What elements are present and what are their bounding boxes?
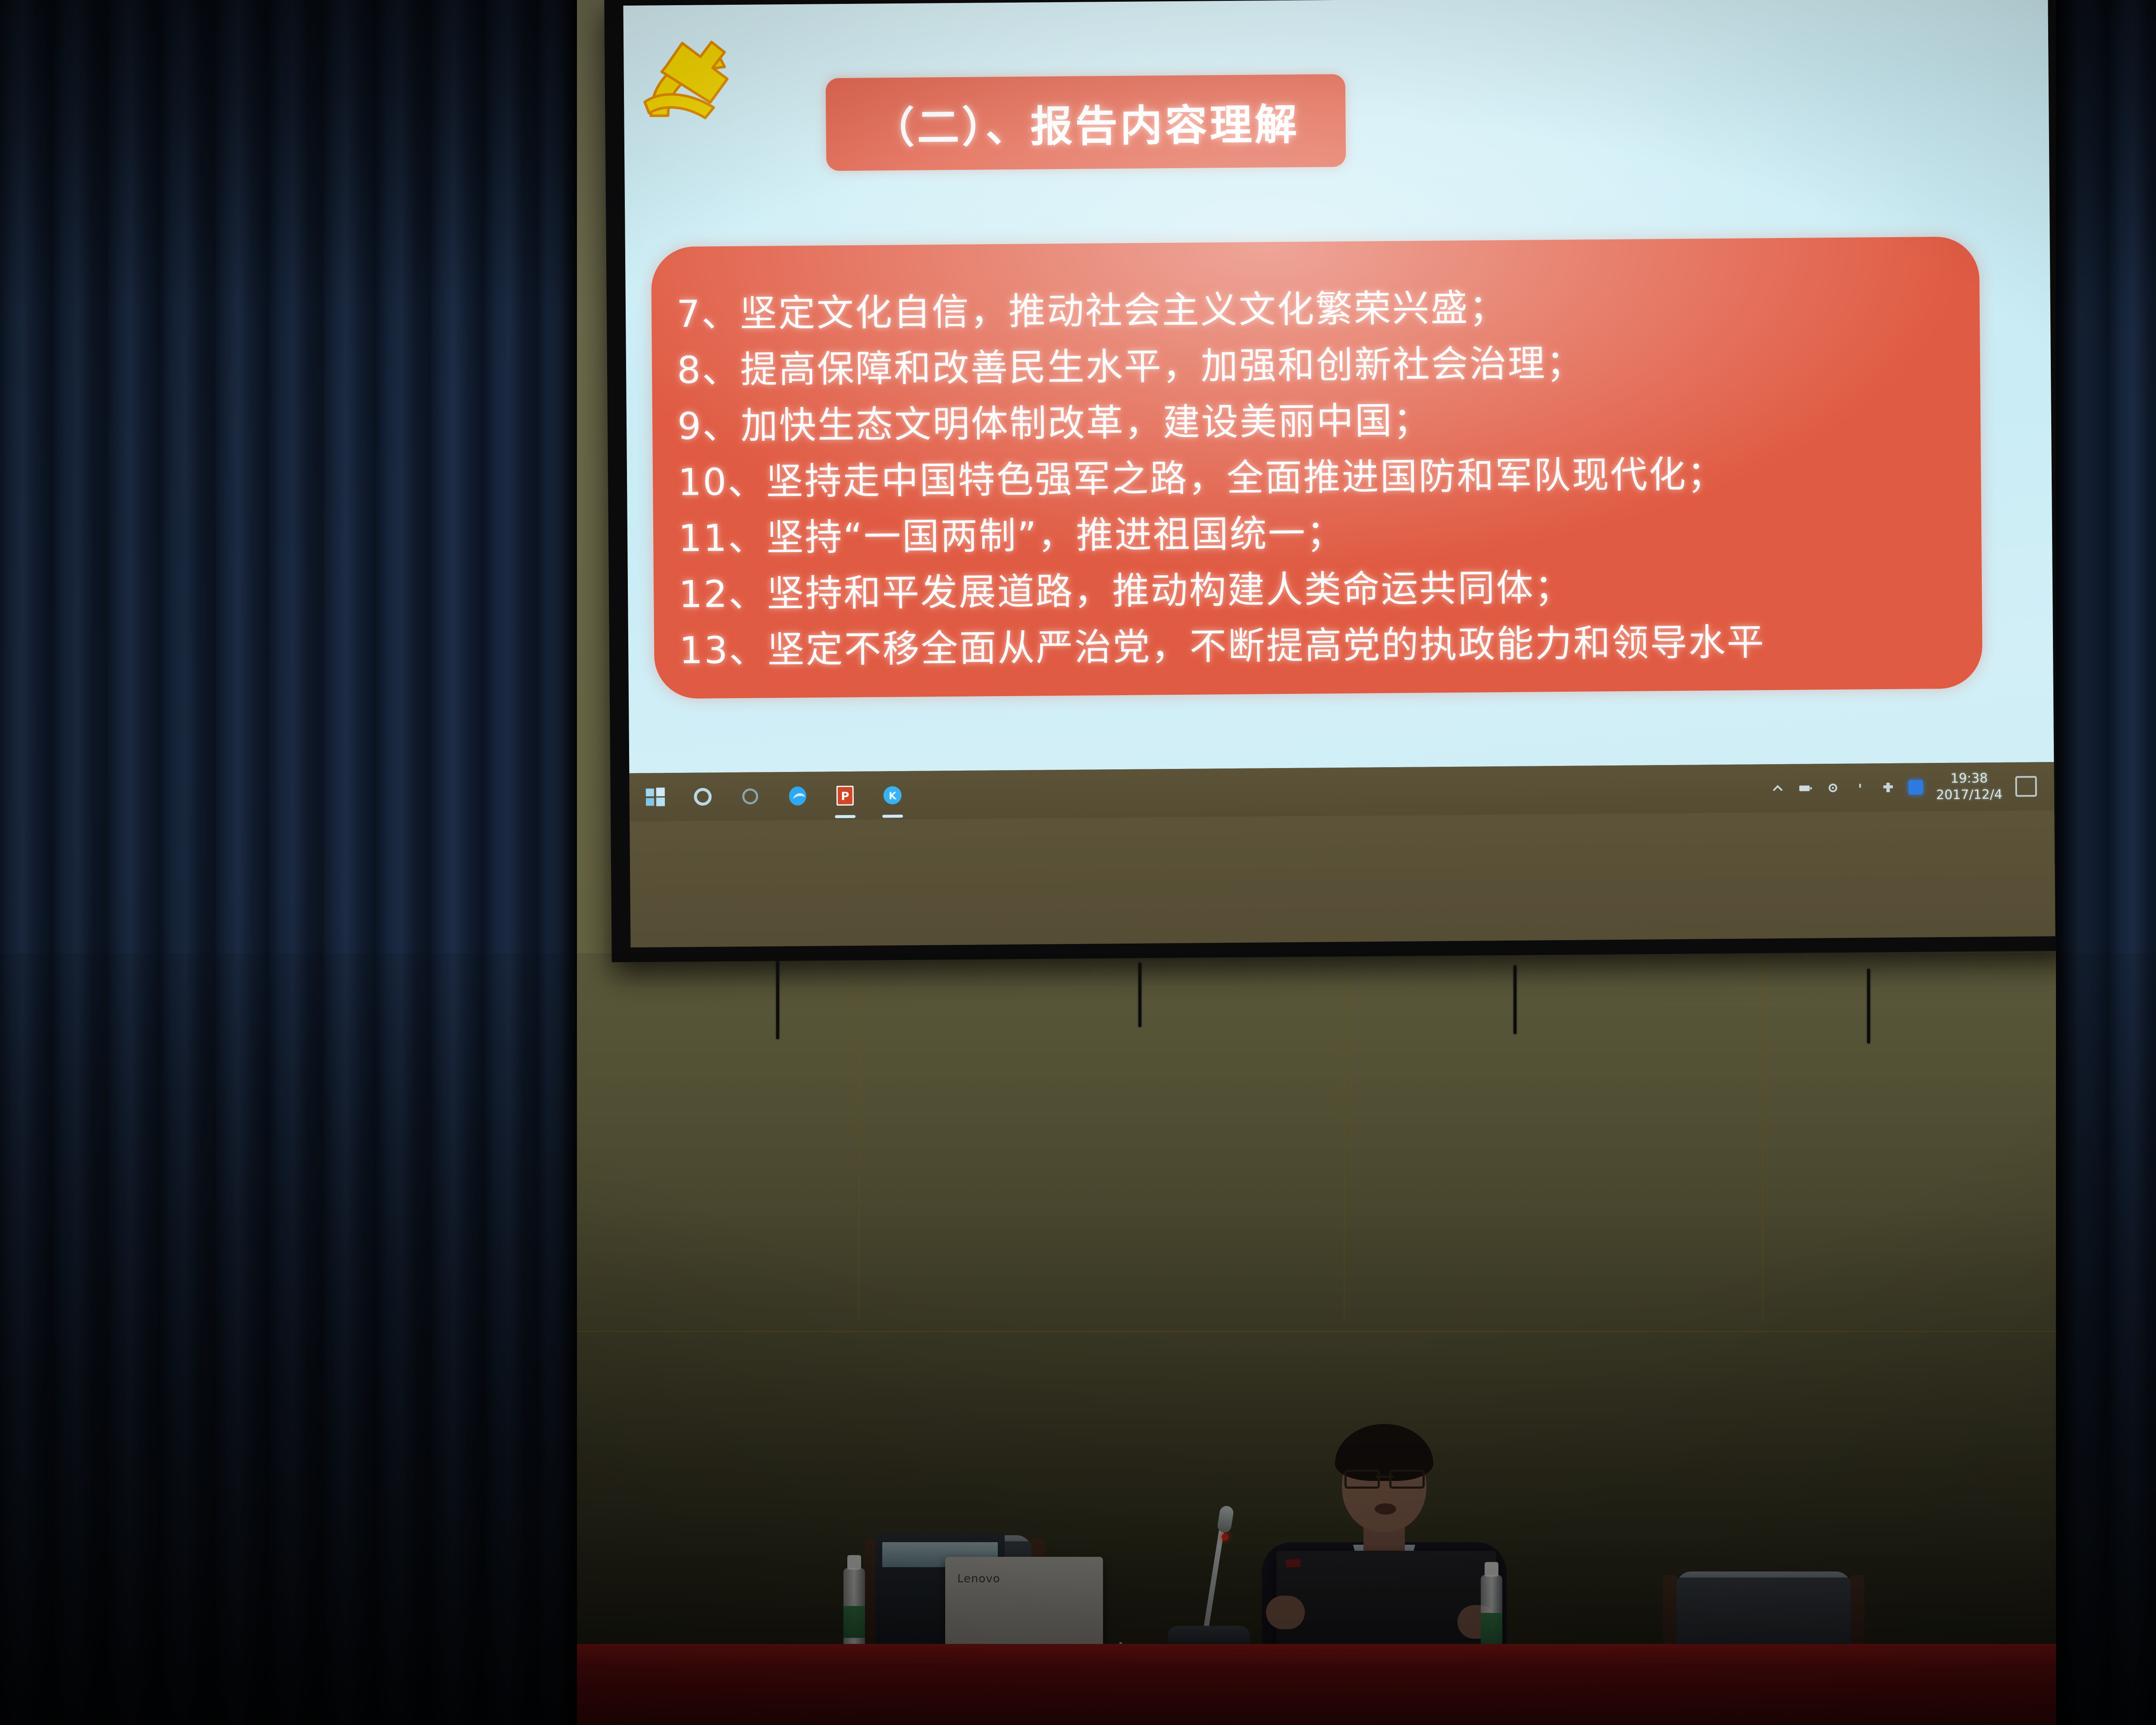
taskbar-clock[interactable]: 19:38 2017/12/4	[1936, 770, 2002, 803]
slide-bullet: 10、坚持走中国特色强军之路，全面推进国防和军队现代化；	[653, 444, 1981, 511]
chevron-up-icon[interactable]	[1771, 781, 1785, 796]
wall-vertical-seam	[1344, 962, 1345, 1320]
slide-title-banner: （二）、报告内容理解	[826, 74, 1346, 171]
svg-text:P: P	[841, 790, 849, 803]
wall-horizontal-seam	[577, 1331, 2056, 1332]
slide-bullet: 9、加快生态文明体制改革，建设美丽中国；	[652, 388, 1981, 455]
screen-hanging-cord	[1867, 969, 1870, 1044]
taskbar-app-list: P K	[630, 784, 904, 809]
slide-bullet: 11、坚持“一国两制”，推进祖国统一；	[653, 500, 1982, 567]
slide-bullet: 13、坚定不移全面从严治党，不断提高党的执政能力和领导水平	[654, 612, 1983, 679]
cortana-circle-icon[interactable]	[692, 785, 714, 808]
projection-surface: （二）、报告内容理解 7、坚定文化自信，推动社会主义文化繁荣兴盛； 8、提高保障…	[623, 0, 2055, 947]
app-circle-icon[interactable]: K	[881, 784, 904, 806]
silver-laptop: Lenovo	[945, 1557, 1103, 1653]
task-view-icon[interactable]	[739, 785, 761, 808]
svg-text:K: K	[889, 790, 897, 802]
screen-hanging-cord	[776, 961, 779, 1039]
windows-start-icon[interactable]	[644, 786, 667, 808]
wall-vertical-seam	[858, 962, 859, 1320]
slide-content-card: 7、坚定文化自信，推动社会主义文化繁荣兴盛； 8、提高保障和改善民生水平，加强和…	[651, 236, 1983, 699]
powerpoint-icon[interactable]: P	[834, 784, 856, 807]
presenter-hand	[1266, 1596, 1305, 1629]
action-center-icon[interactable]	[2015, 776, 2037, 797]
slide-bullet: 7、坚定文化自信，推动社会主义文化繁荣兴盛；	[652, 276, 1980, 342]
slide-bullet: 12、坚持和平发展道路，推动构建人类命运共同体；	[654, 556, 1982, 623]
slide-bullet: 8、提高保障和改善民生水平，加强和创新社会治理；	[652, 332, 1981, 398]
table-top-edge	[427, 1644, 2061, 1664]
battery-icon[interactable]	[1798, 781, 1813, 795]
conference-hall-scene: （二）、报告内容理解 7、坚定文化自信，推动社会主义文化繁荣兴盛； 8、提高保障…	[0, 0, 2156, 1725]
page-title: （二）、报告内容理解	[872, 90, 1300, 155]
clock-time: 19:38	[1936, 770, 2002, 787]
laptop-badge	[1286, 1559, 1300, 1567]
presentation-table	[427, 1644, 2061, 1725]
network-icon[interactable]	[1826, 781, 1840, 795]
screen-hanging-cord	[1514, 965, 1517, 1034]
system-tray: 19:38 2017/12/4	[1771, 770, 2054, 805]
clock-date: 2017/12/4	[1936, 787, 2002, 803]
wall-vertical-seam	[1762, 962, 1763, 1320]
laptop-brand-label: Lenovo	[957, 1572, 1000, 1585]
hammer-and-sickle-icon	[636, 15, 740, 124]
projection-screen: （二）、报告内容理解 7、坚定文化自信，推动社会主义文化繁荣兴盛； 8、提高保障…	[604, 0, 2073, 962]
edge-browser-icon[interactable]	[787, 785, 809, 807]
ime-mode-icon[interactable]	[1908, 780, 1923, 794]
screen-hanging-cord	[1138, 963, 1141, 1027]
microphone-led-icon	[1222, 1534, 1228, 1540]
stage-curtain-right	[2056, 0, 2156, 1725]
glasses-icon	[1344, 1470, 1425, 1484]
stage-curtain-left	[0, 0, 577, 1725]
powerpoint-slide: （二）、报告内容理解 7、坚定文化自信，推动社会主义文化繁荣兴盛； 8、提高保障…	[623, 0, 2054, 773]
dark-laptop	[1276, 1551, 1496, 1654]
volume-icon[interactable]	[1853, 780, 1868, 795]
presenter-mouth	[1375, 1503, 1396, 1515]
ime-icon[interactable]	[1881, 780, 1896, 795]
